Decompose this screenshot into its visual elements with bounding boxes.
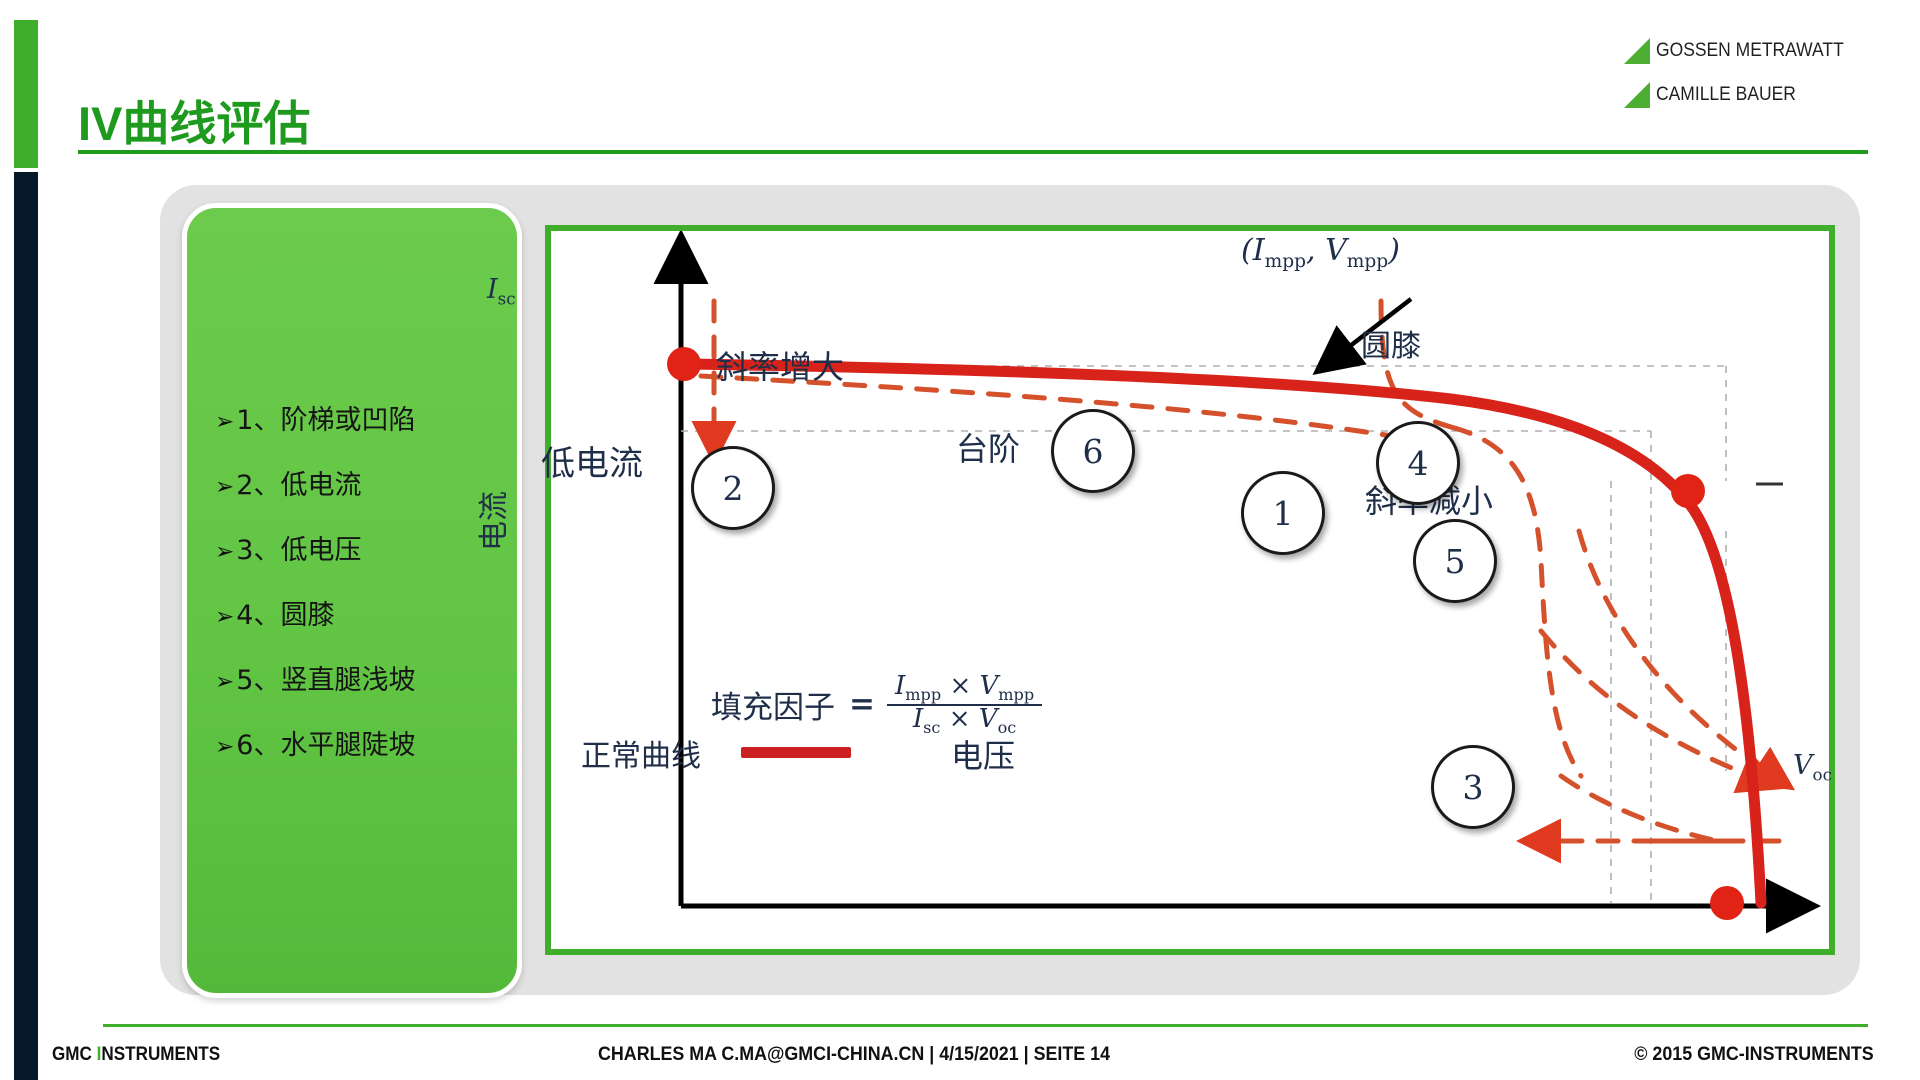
fill-factor-formula: 填充因子 = Impp × Vmpp Isc × Voc xyxy=(711,671,1042,737)
footer-brand-suffix: NSTRUMENTS xyxy=(101,1044,220,1065)
left-accent-bar-green xyxy=(14,20,38,168)
green-triangle-icon xyxy=(1624,82,1650,108)
voc-marker xyxy=(1710,886,1744,920)
brand-row-camille: CAMILLE BAUER xyxy=(1624,78,1884,112)
footer-copyright: © 2015 GMC-INSTRUMENTS xyxy=(1635,1044,1874,1066)
fill-factor-label: 填充因子 xyxy=(711,682,835,727)
list-item-label: 1、阶梯或凹陷 xyxy=(236,398,415,437)
list-item: ➢ 4、圆膝 xyxy=(215,593,509,632)
callout-2[interactable]: 2 xyxy=(691,446,775,530)
list-item: ➢ 2、低电流 xyxy=(215,463,509,502)
voc-axis-label: Voc xyxy=(1793,750,1832,784)
footer-brand: GMC INSTRUMENTS xyxy=(52,1044,220,1066)
round-knee-annotation: 圆膝 xyxy=(1361,321,1421,365)
mpp-marker xyxy=(1671,474,1705,508)
normal-iv-curve xyxy=(689,364,1761,903)
legend-label: 正常曲线 xyxy=(581,731,701,775)
list-item: ➢ 6、水平腿陡坡 xyxy=(215,723,509,762)
arrow-bullet-icon: ➢ xyxy=(215,671,234,694)
arrow-bullet-icon: ➢ xyxy=(215,411,234,434)
x-axis-label: 电压 xyxy=(951,731,1015,777)
callout-1[interactable]: 1 xyxy=(1241,471,1325,555)
equals-sign: = xyxy=(849,686,875,722)
list-item-label: 6、水平腿陡坡 xyxy=(236,723,415,762)
green-triangle-icon xyxy=(1624,38,1650,64)
callout-6[interactable]: 6 xyxy=(1051,409,1135,493)
fill-factor-fraction: Impp × Vmpp Isc × Voc xyxy=(887,671,1042,737)
list-item-label: 5、竖直腿浅坡 xyxy=(236,658,415,697)
arrow-bullet-icon: ➢ xyxy=(215,606,234,629)
callout-3[interactable]: 3 xyxy=(1431,745,1515,829)
brand-name-gossen: GOSSEN METRAWATT xyxy=(1656,40,1844,62)
mpp-annotation: (Impp, Vmpp) xyxy=(1241,233,1400,272)
brand-row-gossen: GOSSEN METRAWATT xyxy=(1624,34,1884,68)
defect-list-card: ➢ 1、阶梯或凹陷 ➢ 2、低电流 ➢ 3、低电压 ➢ 4、圆膝 ➢ 5、竖直腿… xyxy=(182,203,522,998)
iv-curve-plot xyxy=(551,231,1829,949)
callout-4[interactable]: 4 xyxy=(1376,421,1460,505)
fraction-denominator: Isc × Voc xyxy=(905,701,1024,734)
y-axis-label: 电流 xyxy=(469,491,513,551)
left-accent-bar-dark xyxy=(14,172,38,1080)
brand-logo-group: GOSSEN METRAWATT CAMILLE BAUER xyxy=(1624,34,1884,122)
arrow-bullet-icon: ➢ xyxy=(215,541,234,564)
isc-marker xyxy=(667,347,701,381)
guide-lines xyxy=(681,366,1726,903)
page-title: IV曲线评估 xyxy=(78,85,310,154)
iv-curve-chart: Isc Voc (Impp, Vmpp) 圆膝 低电流 斜率增大 台阶 斜率减小… xyxy=(545,225,1835,955)
list-item-label: 3、低电压 xyxy=(236,528,361,567)
footer-author-info: CHARLES MA C.MA@GMCI-CHINA.CN | 4/15/202… xyxy=(598,1044,1110,1066)
legend-color-swatch xyxy=(741,747,851,758)
list-item-label: 4、圆膝 xyxy=(236,593,334,632)
title-divider xyxy=(78,150,1868,154)
arrow-bullet-icon: ➢ xyxy=(215,736,234,759)
step-annotation: 台阶 xyxy=(956,424,1020,470)
list-item: ➢ 3、低电压 xyxy=(215,528,509,567)
slope-increase-annotation: 斜率增大 xyxy=(716,342,844,388)
callout-5[interactable]: 5 xyxy=(1413,519,1497,603)
list-item-label: 2、低电流 xyxy=(236,463,361,502)
list-item: ➢ 5、竖直腿浅坡 xyxy=(215,658,509,697)
defect-list: ➢ 1、阶梯或凹陷 ➢ 2、低电流 ➢ 3、低电压 ➢ 4、圆膝 ➢ 5、竖直腿… xyxy=(215,398,509,788)
isc-axis-label: Isc xyxy=(487,274,516,308)
arrow-bullet-icon: ➢ xyxy=(215,476,234,499)
footer-divider xyxy=(103,1024,1868,1027)
list-item: ➢ 1、阶梯或凹陷 xyxy=(215,398,509,437)
footer-brand-prefix: GMC xyxy=(52,1044,97,1065)
brand-name-camille: CAMILLE BAUER xyxy=(1656,84,1796,106)
low-current-annotation: 低电流 xyxy=(541,436,643,485)
